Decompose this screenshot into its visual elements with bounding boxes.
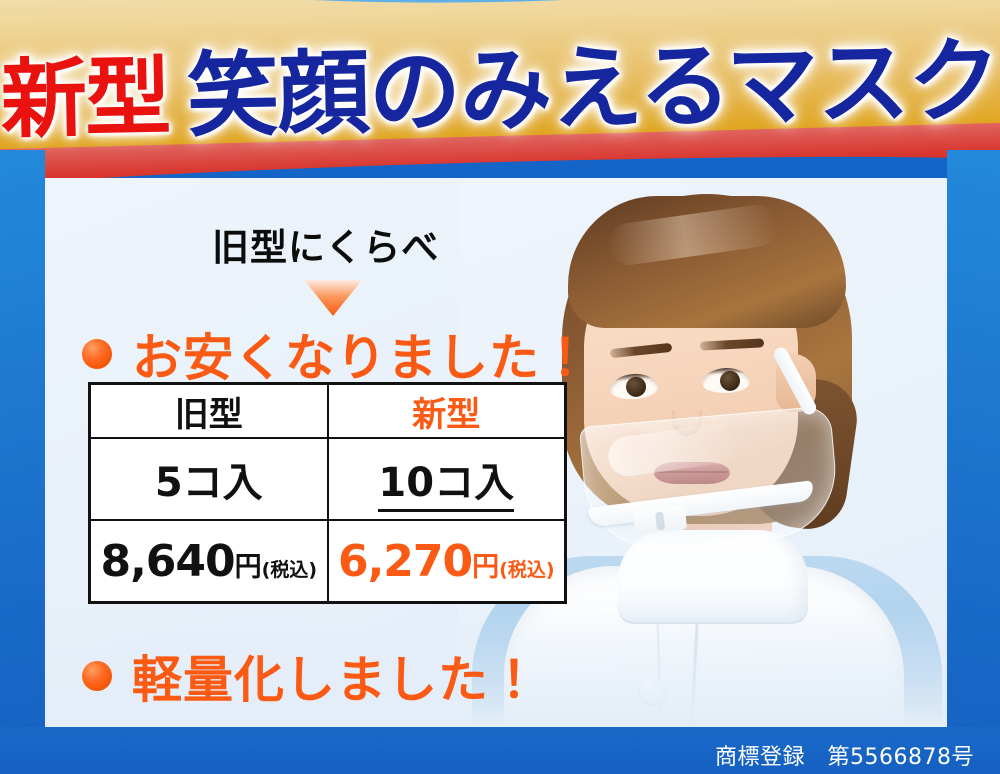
lead-text: 旧型にくらべ: [212, 217, 439, 271]
banner-title: 新型 笑顔のみえるマスク: [0, 2, 1000, 161]
trademark-registration-text: 商標登録 第5566878号: [715, 739, 974, 771]
table-cell-price-new: 6,270円(税込): [328, 520, 566, 603]
table-row-quantity: 5コ入 10コ入: [90, 438, 566, 520]
highlight-row-weight: 軽量化しました！: [82, 640, 540, 712]
price-new: 6,270円(税込): [338, 561, 555, 580]
price-new-tax: (税込): [499, 559, 554, 581]
highlight-row-price: お安くなりました！: [82, 318, 591, 390]
quantity-new-underlined: 10コ入: [378, 460, 514, 512]
orange-dot-icon: [82, 661, 112, 691]
price-new-amount: 6,270: [338, 536, 472, 587]
price-old: 8,640円(税込): [100, 561, 317, 580]
table-header-old: 旧型: [90, 384, 328, 439]
border-right: [947, 150, 1000, 727]
uniform-button: [640, 678, 666, 704]
price-old-tax: (税込): [262, 559, 317, 581]
down-triangle-arrow-icon: [304, 280, 362, 316]
table-row-header: 旧型 新型: [90, 384, 566, 439]
banner-product-title: 笑顔のみえるマスク: [185, 6, 1000, 155]
highlight-label-price: お安くなりました！: [132, 318, 591, 390]
price-new-unit: 円: [472, 552, 499, 583]
banner-badge-new: 新型: [0, 26, 170, 154]
comparison-table: 旧型 新型 5コ入 10コ入 8,640円(税込) 6,270円(税込): [88, 382, 567, 604]
table-row-price: 8,640円(税込) 6,270円(税込): [90, 520, 566, 603]
eyelash-right: [702, 367, 750, 375]
table-cell-quantity-old: 5コ入: [90, 438, 328, 520]
price-old-unit: 円: [235, 552, 262, 583]
border-left: [0, 150, 45, 727]
table-cell-price-old: 8,640円(税込): [90, 520, 328, 603]
table-cell-quantity-new: 10コ入: [328, 438, 566, 520]
highlight-label-weight: 軽量化しました！: [132, 640, 540, 712]
table-header-new: 新型: [328, 384, 566, 439]
orange-dot-icon: [82, 339, 112, 369]
advertisement-poster: 新型 笑顔のみえるマスク: [0, 0, 1000, 774]
price-old-amount: 8,640: [100, 536, 234, 587]
